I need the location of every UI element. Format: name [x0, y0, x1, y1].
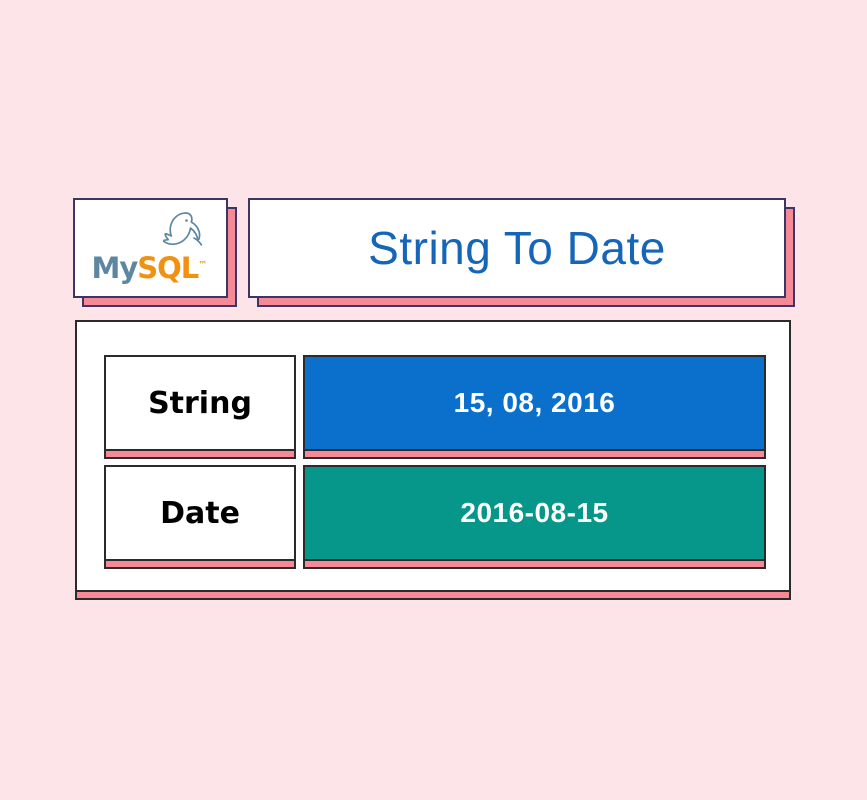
mysql-wordmark: MySQL™	[92, 254, 208, 283]
row-value-text: 2016-08-15	[460, 497, 608, 529]
row-value-wrap: 15, 08, 2016	[303, 355, 766, 451]
row-value-wrap: 2016-08-15	[303, 465, 766, 561]
dolphin-icon	[150, 211, 204, 253]
header-row: MySQL™ String To Date	[73, 198, 795, 303]
row-value-text: 15, 08, 2016	[454, 387, 616, 419]
row-label-cell: Date	[104, 465, 296, 561]
mysql-trademark-symbol: ™	[198, 260, 207, 270]
table-row: String 15, 08, 2016	[104, 355, 766, 465]
title-card: String To Date	[248, 198, 786, 298]
row-value-cell: 15, 08, 2016	[303, 355, 766, 451]
table-panel: String 15, 08, 2016 Date	[75, 320, 791, 592]
table-row: Date 2016-08-15	[104, 465, 766, 575]
slide-canvas: MySQL™ String To Date String	[0, 0, 867, 800]
mysql-wordmark-sql: SQL	[137, 251, 198, 285]
row-label-text: Date	[160, 496, 240, 531]
page-title: String To Date	[368, 225, 666, 271]
row-label-text: String	[148, 386, 252, 421]
row-label-wrap: Date	[104, 465, 296, 561]
row-label-wrap: String	[104, 355, 296, 451]
mysql-wordmark-my: My	[92, 251, 138, 285]
mysql-logo: MySQL™	[92, 211, 210, 285]
row-value-cell: 2016-08-15	[303, 465, 766, 561]
mysql-logo-card: MySQL™	[73, 198, 228, 298]
table-rows: String 15, 08, 2016 Date	[104, 355, 766, 575]
row-label-cell: String	[104, 355, 296, 451]
